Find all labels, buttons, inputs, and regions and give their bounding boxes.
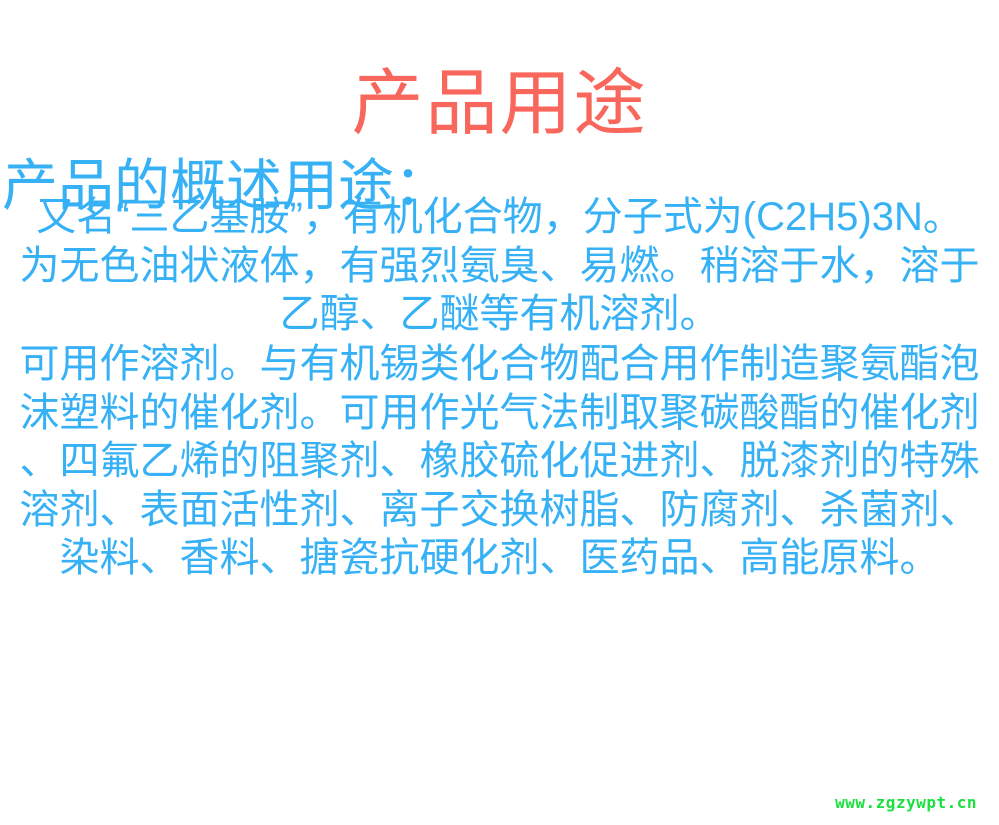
- paragraph-line: 乙醇、乙醚等有机溶剂。: [0, 290, 999, 339]
- paragraph-line: 沫塑料的催化剂。可用作光气法制取聚碳酸酯的催化剂: [0, 389, 999, 438]
- product-usage-slide: 产品用途 产品的概述用途： 又名“三乙基胺”，有机化合物，分子式为(C2H5)3…: [0, 0, 999, 825]
- paragraph-line: 、四氟乙烯的阻聚剂、橡胶硫化促进剂、脱漆剂的特殊: [0, 437, 999, 486]
- paragraph-line: 溶剂、表面活性剂、离子交换树脂、防腐剂、杀菌剂、: [0, 486, 999, 535]
- site-watermark: www.zgzywpt.cn: [835, 793, 977, 813]
- paragraph-line: 又名“三乙基胺”，有机化合物，分子式为(C2H5)3N。: [0, 193, 999, 242]
- page-title: 产品用途: [0, 64, 999, 144]
- paragraph-applications: 可用作溶剂。与有机锡类化合物配合用作制造聚氨酯泡 沫塑料的催化剂。可用作光气法制…: [0, 340, 999, 583]
- paragraph-overview: 又名“三乙基胺”，有机化合物，分子式为(C2H5)3N。 为无色油状液体，有强烈…: [0, 193, 999, 339]
- paragraph-line: 为无色油状液体，有强烈氨臭、易燃。稍溶于水，溶于: [0, 242, 999, 291]
- paragraph-line: 可用作溶剂。与有机锡类化合物配合用作制造聚氨酯泡: [0, 340, 999, 389]
- paragraph-line: 染料、香料、搪瓷抗硬化剂、医药品、高能原料。: [0, 534, 999, 583]
